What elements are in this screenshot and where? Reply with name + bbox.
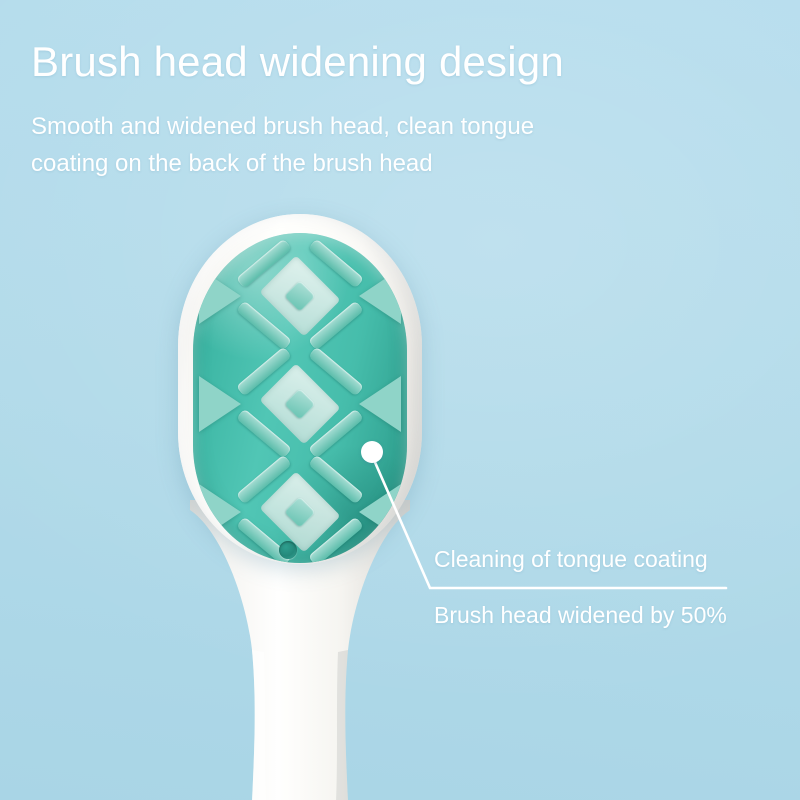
brush-head-shell <box>178 214 422 564</box>
pad-pattern-motif <box>193 241 407 351</box>
pad-diamond-window <box>259 255 340 336</box>
pad-center-knot <box>284 280 315 311</box>
pad-gloss-highlight <box>193 233 407 563</box>
pad-triangle-left <box>199 268 241 324</box>
page-subtitle: Smooth and widened brush head, clean ton… <box>31 108 534 182</box>
pad-triangle-right <box>359 268 401 324</box>
callout-anchor-dot <box>361 441 383 463</box>
pad-moulding-pin-mark <box>279 541 297 559</box>
subtitle-line-2: coating on the back of the brush head <box>31 145 534 182</box>
pad-center-knot <box>284 496 315 527</box>
callout-label-primary: Cleaning of tongue coating <box>434 546 708 573</box>
pad-pattern-motif <box>193 457 407 563</box>
pad-diamond-window <box>259 363 340 444</box>
tongue-cleaner-pad <box>193 233 407 563</box>
pad-center-knot <box>284 388 315 419</box>
callout-label-secondary: Brush head widened by 50% <box>434 602 727 629</box>
brush-neck <box>186 500 414 800</box>
pad-triangle-left <box>199 484 241 540</box>
pad-triangle-right <box>359 376 401 432</box>
pad-diamond-window <box>259 471 340 552</box>
pad-triangle-left <box>199 376 241 432</box>
page-title: Brush head widening design <box>31 38 564 86</box>
pad-triangle-right <box>359 484 401 540</box>
product-marketing-image: Brush head widening design Smooth and wi… <box>0 0 800 800</box>
subtitle-line-1: Smooth and widened brush head, clean ton… <box>31 108 534 145</box>
